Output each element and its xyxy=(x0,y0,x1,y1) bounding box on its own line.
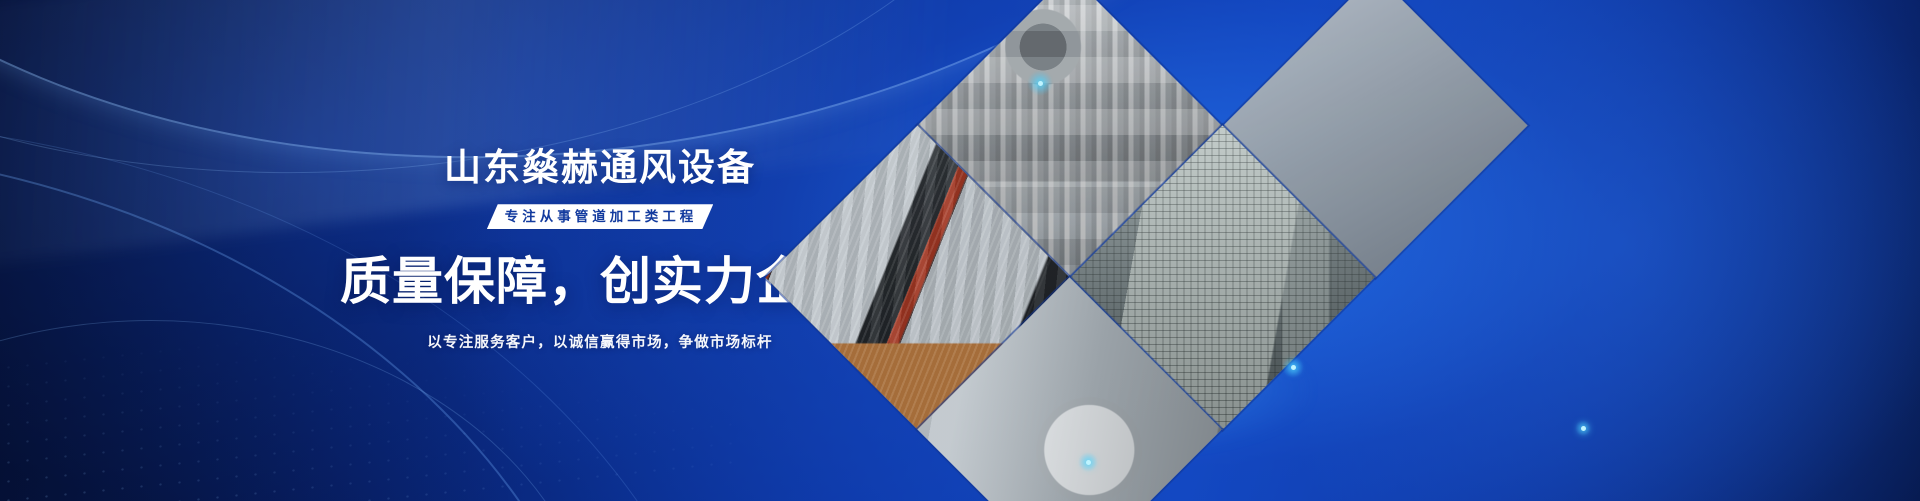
spark-top-icon xyxy=(1027,70,1053,96)
ribbon-tagline: 专注从事管道加工类工程 xyxy=(487,204,714,229)
spark-bottom-icon xyxy=(1078,452,1098,472)
banner-copy-block: 山东燊赫通风设备 专注从事管道加工类工程 质量保障，创实力企业 以专注服务客户，… xyxy=(0,0,980,501)
photo-tile-extra xyxy=(1223,0,1527,278)
spark-right-icon xyxy=(1282,356,1304,378)
photo-tile-workshop xyxy=(1070,125,1374,429)
ground-glow xyxy=(980,330,1310,450)
right-haze-glow xyxy=(1300,0,1920,501)
hero-banner: 山东燊赫通风设备 专注从事管道加工类工程 质量保障，创实力企业 以专注服务客户，… xyxy=(0,0,1920,501)
photo-extra-image xyxy=(1223,0,1527,278)
spark-far-right-icon xyxy=(1575,420,1591,436)
company-name: 山东燊赫通风设备 xyxy=(444,149,756,186)
headline: 质量保障，创实力企业 xyxy=(340,255,860,309)
sub-tagline: 以专注服务客户，以诚信赢得市场，争做市场标杆 xyxy=(427,331,772,352)
photo-workshop-image xyxy=(1070,125,1374,429)
ribbon-container: 专注从事管道加工类工程 xyxy=(487,204,714,229)
